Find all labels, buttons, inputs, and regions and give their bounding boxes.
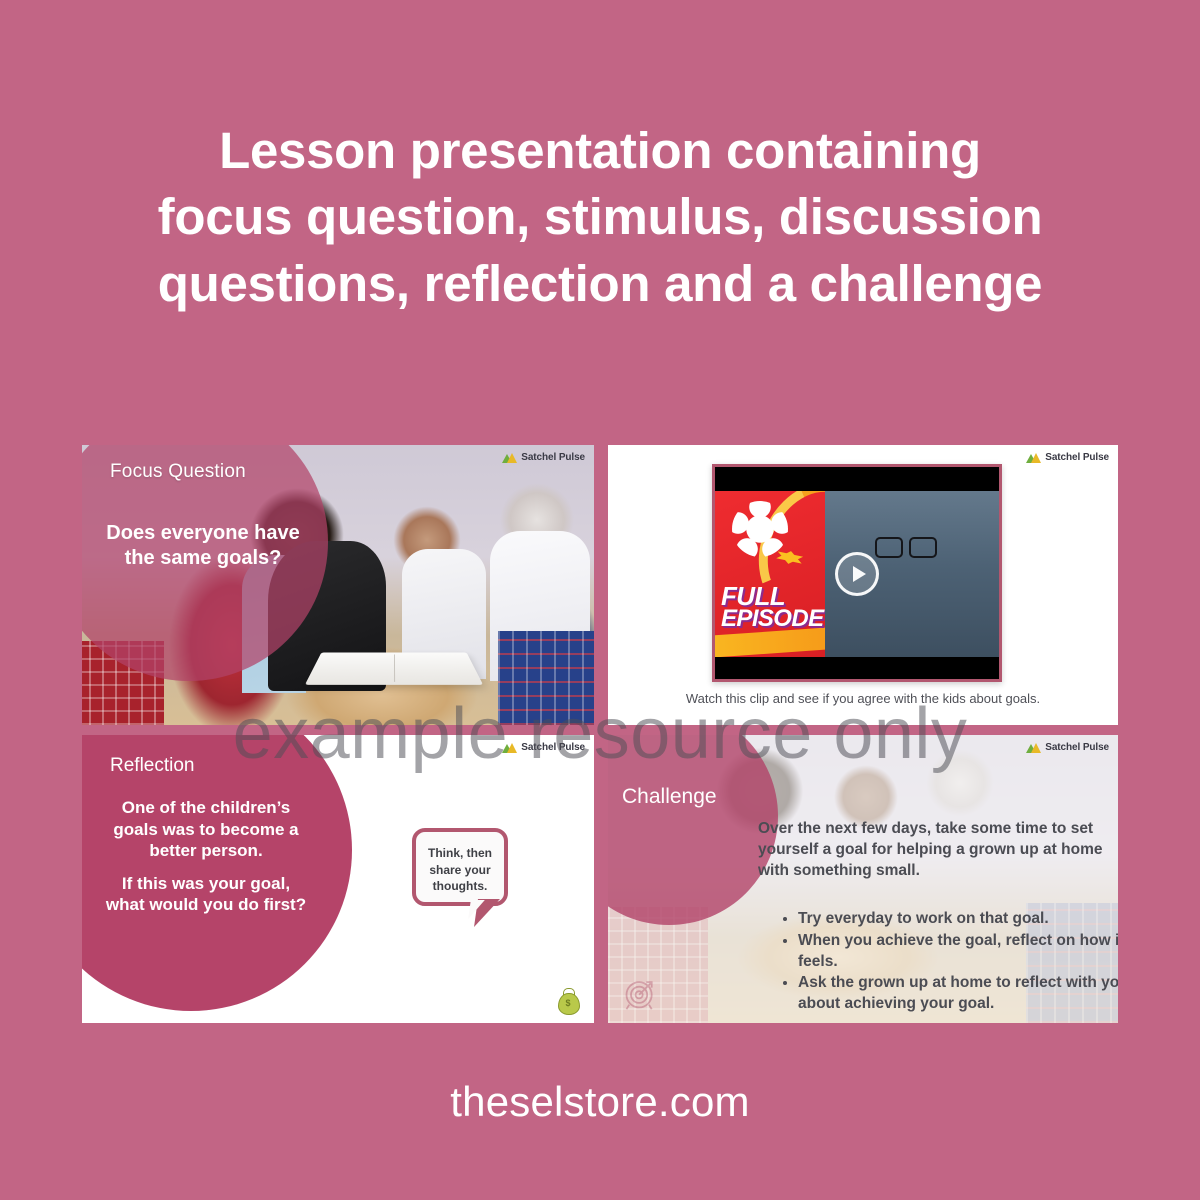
reflection-paragraph-1: One of the children’s goals was to becom… <box>113 798 298 860</box>
satchel-pulse-logo-text: Satchel Pulse <box>1045 742 1109 753</box>
list-item: When you achieve the goal, reflect on ho… <box>798 931 1118 973</box>
play-icon[interactable] <box>835 552 879 596</box>
stimulus-caption: Watch this clip and see if you agree wit… <box>608 691 1118 706</box>
satchel-pulse-logo: Satchel Pulse <box>1026 742 1109 753</box>
reflection-kicker: Reflection <box>110 755 195 777</box>
mountain-logo-icon <box>1026 743 1041 753</box>
speech-bubble-text: Think, then share your thoughts. <box>416 845 504 895</box>
footer-url: theselstore.com <box>0 1078 1200 1126</box>
satchel-pulse-logo-text: Satchel Pulse <box>1045 452 1109 463</box>
list-item: Ask the grown up at home to reflect with… <box>798 973 1118 1015</box>
reflection-paragraph-2: If this was your goal, what would you do… <box>102 873 310 916</box>
open-book <box>305 652 483 684</box>
full-episode-badge: FULL EPISODE <box>715 491 825 657</box>
full-episode-line-2: EPISODE <box>721 605 824 633</box>
page-title: Lesson presentation containing focus que… <box>0 118 1200 317</box>
satchel-pulse-logo: Satchel Pulse <box>502 452 585 463</box>
plaid-skirt-right <box>498 631 594 725</box>
page-title-line-1: Lesson presentation containing <box>110 118 1090 184</box>
satchel-pulse-logo-text: Satchel Pulse <box>521 742 585 753</box>
slide-thumbnail-grid: Satchel Pulse Focus Question Does everyo… <box>82 445 1118 1023</box>
slide-reflection[interactable]: Satchel Pulse Reflection One of the chil… <box>82 735 594 1023</box>
target-icon <box>622 975 658 1011</box>
challenge-body-text: Over the next few days, take some time t… <box>758 819 1108 881</box>
slide-challenge[interactable]: Satchel Pulse Challenge Over the next fe… <box>608 735 1118 1023</box>
slide-stimulus-video[interactable]: Satchel Pulse FULL EPISODE Watch this cl… <box>608 445 1118 725</box>
mountain-logo-icon <box>502 453 517 463</box>
challenge-bullet-list: Try everyday to work on that goal. When … <box>776 909 1118 1016</box>
slide-focus-question[interactable]: Satchel Pulse Focus Question Does everyo… <box>82 445 594 725</box>
challenge-kicker: Challenge <box>622 785 717 809</box>
page-title-line-3: questions, reflection and a challenge <box>110 251 1090 317</box>
money-bag-symbol: $ <box>556 998 580 1008</box>
satchel-pulse-logo-text: Satchel Pulse <box>521 452 585 463</box>
mountain-logo-icon <box>1026 453 1041 463</box>
video-thumbnail[interactable]: FULL EPISODE <box>712 464 1002 682</box>
eyeglasses <box>875 537 937 555</box>
speech-bubble: Think, then share your thoughts. <box>412 828 508 906</box>
satchel-pulse-logo: Satchel Pulse <box>1026 452 1109 463</box>
focus-question-text: Does everyone have the same goals? <box>104 521 302 571</box>
mountain-logo-icon <box>502 743 517 753</box>
money-bag-icon: $ <box>556 986 580 1014</box>
satchel-pulse-logo: Satchel Pulse <box>502 742 585 753</box>
focus-question-kicker: Focus Question <box>110 461 246 483</box>
reflection-text: One of the children’s goals was to becom… <box>102 797 310 916</box>
speech-bubble-tail <box>474 899 500 927</box>
page-title-line-2: focus question, stimulus, discussion <box>110 184 1090 250</box>
video-still: FULL EPISODE <box>715 491 999 657</box>
list-item: Try everyday to work on that goal. <box>798 909 1118 930</box>
